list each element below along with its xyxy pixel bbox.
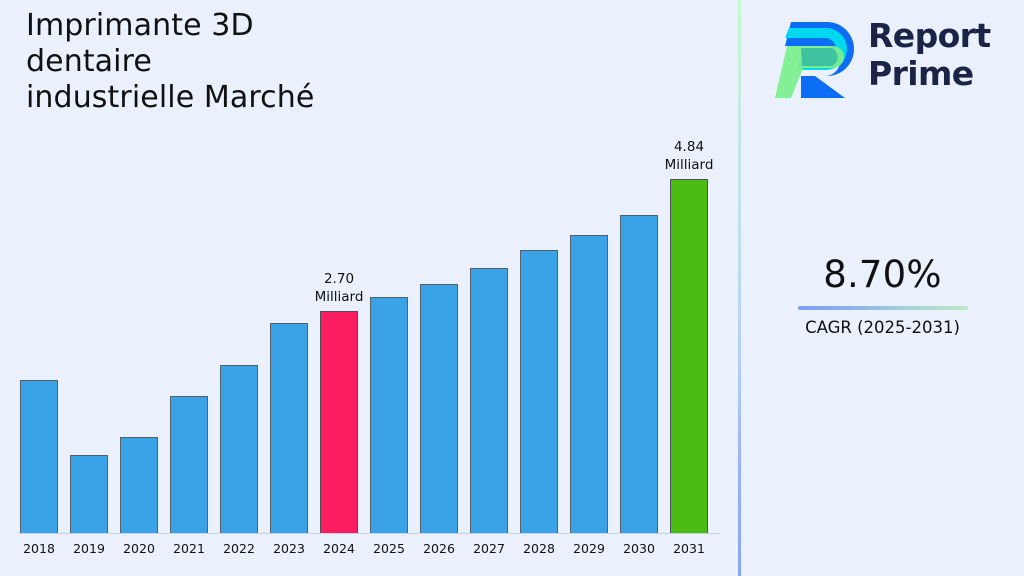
x-tick-label-2028: 2028 xyxy=(511,541,567,556)
x-tick-label-2026: 2026 xyxy=(411,541,467,556)
chart-panel: Imprimante 3D dentaire industrielle Marc… xyxy=(0,0,738,576)
bar-2019 xyxy=(70,455,108,533)
x-tick-label-2019: 2019 xyxy=(61,541,117,556)
bar-2028 xyxy=(520,250,558,533)
x-tick-label-2027: 2027 xyxy=(461,541,517,556)
x-tick-label-2018: 2018 xyxy=(11,541,67,556)
chart-screenshot: Imprimante 3D dentaire industrielle Marc… xyxy=(0,0,1024,576)
x-tick-label-2022: 2022 xyxy=(211,541,267,556)
cagr-caption: CAGR (2025-2031) xyxy=(741,317,1024,339)
bar-2031 xyxy=(670,179,708,533)
bar-2021 xyxy=(170,396,208,533)
bar-value-callout-2031: 4.84Milliard xyxy=(634,138,744,174)
bar-chart-plot: 2018201920202021202220232024202520262027… xyxy=(0,0,738,576)
bar-2030 xyxy=(620,215,658,533)
bar-value-callout-2024: 2.70Milliard xyxy=(284,270,394,306)
x-tick-label-2030: 2030 xyxy=(611,541,667,556)
bar-2020 xyxy=(120,437,158,533)
x-tick-label-2020: 2020 xyxy=(111,541,167,556)
cagr-value: 8.70% xyxy=(741,252,1024,298)
bar-2027 xyxy=(470,268,508,533)
bar-2025 xyxy=(370,297,408,533)
bar-2029 xyxy=(570,235,608,533)
info-panel: Report Prime 8.70% CAGR (2025-2031) xyxy=(741,0,1024,576)
callout-value-2031: 4.84 xyxy=(634,138,744,156)
bar-2023 xyxy=(270,323,308,533)
x-tick-label-2031: 2031 xyxy=(661,541,717,556)
bar-2026 xyxy=(420,284,458,533)
callout-unit-2024: Milliard xyxy=(284,288,394,306)
bar-2018 xyxy=(20,380,58,533)
bar-2022 xyxy=(220,365,258,533)
report-prime-logo-icon xyxy=(775,16,865,98)
report-prime-logo: Report Prime xyxy=(775,12,1020,100)
callout-unit-2031: Milliard xyxy=(634,156,744,174)
x-tick-label-2029: 2029 xyxy=(561,541,617,556)
x-tick-label-2024: 2024 xyxy=(311,541,367,556)
logo-wordmark: Report Prime xyxy=(868,17,1018,93)
bar-2024 xyxy=(320,311,358,533)
x-tick-label-2021: 2021 xyxy=(161,541,217,556)
x-tick-label-2025: 2025 xyxy=(361,541,417,556)
x-tick-label-2023: 2023 xyxy=(261,541,317,556)
cagr-divider-rule xyxy=(798,306,968,310)
x-axis-line xyxy=(18,533,720,534)
callout-value-2024: 2.70 xyxy=(284,270,394,288)
cagr-block: 8.70% CAGR (2025-2031) xyxy=(741,252,1024,339)
